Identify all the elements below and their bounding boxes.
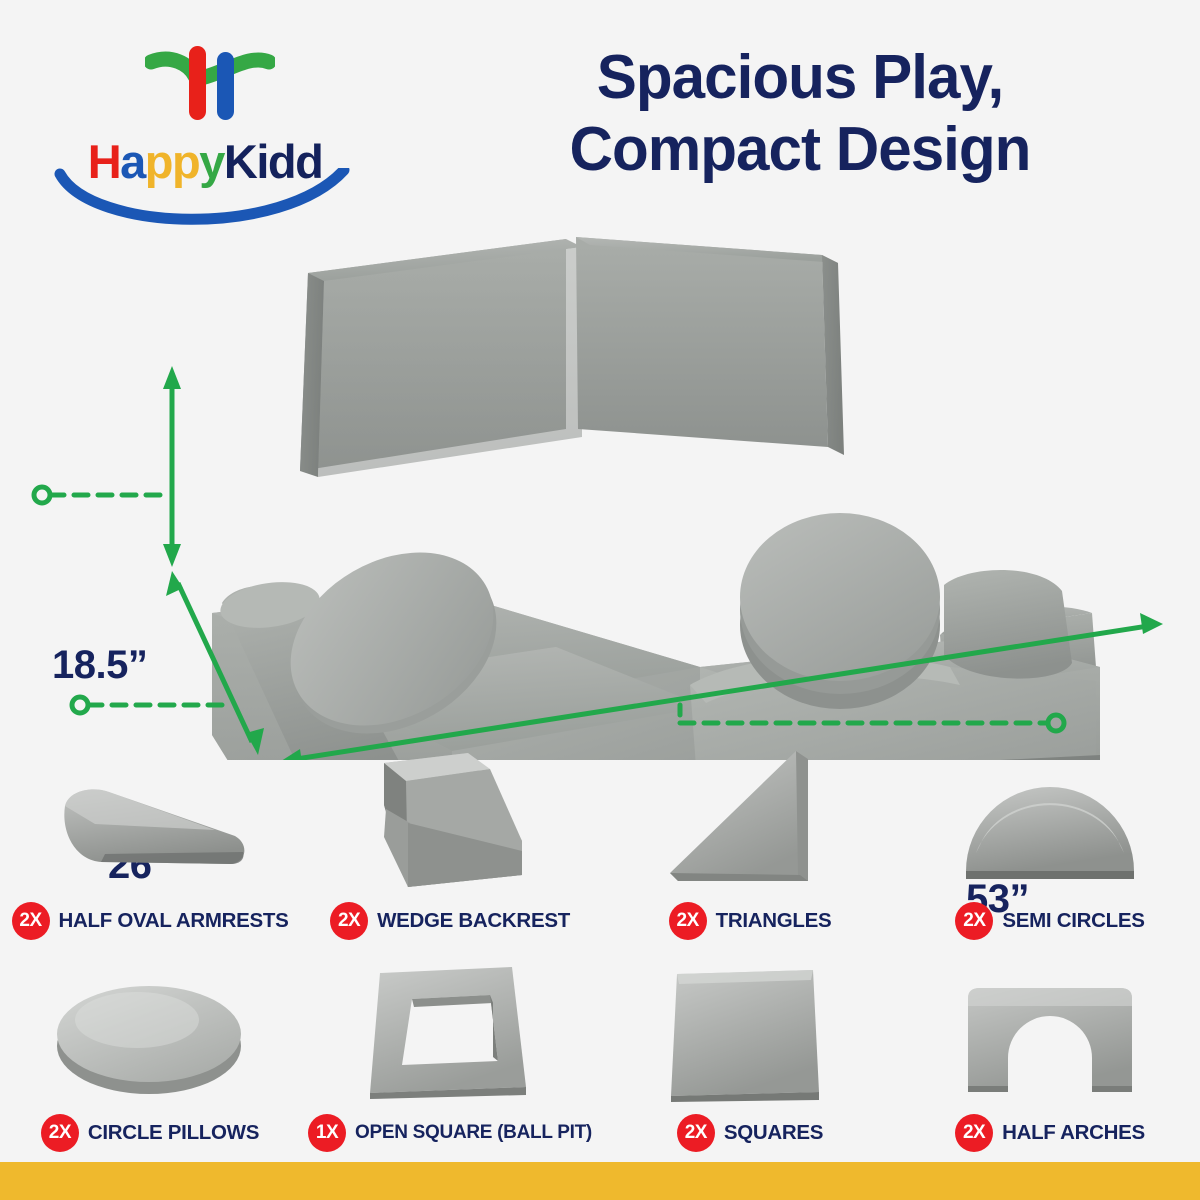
page-title: Spacious Play, Compact Design	[420, 42, 1180, 186]
title-line-2: Compact Design	[431, 114, 1168, 186]
qty-badge: 2X	[669, 902, 707, 940]
piece-circle-pillows[interactable]: 2X CIRCLE PILLOWS	[0, 947, 300, 1159]
half-oval-armrest-icon	[30, 745, 270, 895]
dimension-height-label: 18.5”	[52, 643, 147, 688]
piece-label: HALF ARCHES	[1002, 1121, 1145, 1145]
piece-caption: 2X SEMI CIRCLES	[955, 895, 1144, 947]
pieces-row-2: 2X CIRCLE PILLOWS	[0, 947, 1200, 1159]
piece-label: OPEN SQUARE (BALL PIT)	[355, 1122, 592, 1144]
piece-caption: 2X WEDGE BACKREST	[330, 895, 570, 947]
piece-label: HALF OVAL ARMRESTS	[59, 909, 289, 933]
semi-circle-icon	[930, 745, 1170, 895]
wedge-backrest-icon	[330, 745, 570, 895]
qty-badge: 2X	[12, 902, 50, 940]
pieces-grid: 2X HALF OVAL ARMRESTS	[0, 735, 1200, 1160]
piece-caption: 1X OPEN SQUARE (BALL PIT)	[308, 1107, 592, 1159]
title-line-1: Spacious Play,	[431, 42, 1168, 114]
happykidd-h-mark-icon	[145, 42, 275, 132]
triangle-icon	[630, 745, 870, 895]
piece-caption: 2X HALF OVAL ARMRESTS	[12, 895, 289, 947]
piece-label: TRIANGLES	[716, 909, 832, 933]
footer-accent-bar	[0, 1162, 1200, 1200]
brand-logo: HappyKidd	[40, 42, 370, 217]
qty-badge: 2X	[330, 902, 368, 940]
piece-label: SEMI CIRCLES	[1002, 909, 1144, 933]
piece-caption: 2X SQUARES	[677, 1107, 823, 1159]
square-icon	[630, 957, 870, 1107]
qty-badge: 2X	[41, 1114, 79, 1152]
qty-badge: 2X	[677, 1114, 715, 1152]
piece-half-arches[interactable]: 2X HALF ARCHES	[900, 947, 1200, 1159]
piece-triangles[interactable]: 2X TRIANGLES	[600, 735, 900, 947]
piece-label: SQUARES	[724, 1121, 823, 1145]
piece-wedge-backrest[interactable]: 2X WEDGE BACKREST	[300, 735, 600, 947]
qty-badge: 2X	[955, 1114, 993, 1152]
piece-caption: 2X CIRCLE PILLOWS	[41, 1107, 259, 1159]
piece-label: WEDGE BACKREST	[377, 909, 570, 933]
piece-caption: 2X HALF ARCHES	[955, 1107, 1145, 1159]
piece-semi-circles[interactable]: 2X SEMI CIRCLES	[900, 735, 1200, 947]
dimension-annotations	[0, 215, 1200, 760]
open-square-icon	[330, 957, 570, 1107]
circle-pillow-icon	[30, 957, 270, 1107]
piece-open-square[interactable]: 1X OPEN SQUARE (BALL PIT)	[300, 947, 600, 1159]
piece-half-oval-armrests[interactable]: 2X HALF OVAL ARMRESTS	[0, 735, 300, 947]
hero-product-area: 18.5” 26” 53”	[0, 215, 1200, 760]
infographic-page: HappyKidd Spacious Play, Compact Design	[0, 0, 1200, 1200]
qty-badge: 1X	[308, 1114, 346, 1152]
piece-label: CIRCLE PILLOWS	[88, 1121, 259, 1145]
piece-squares[interactable]: 2X SQUARES	[600, 947, 900, 1159]
dimension-height-arrow	[34, 366, 181, 567]
header: HappyKidd Spacious Play, Compact Design	[0, 0, 1200, 225]
piece-caption: 2X TRIANGLES	[669, 895, 832, 947]
pieces-row-1: 2X HALF OVAL ARMRESTS	[0, 735, 1200, 947]
qty-badge: 2X	[955, 902, 993, 940]
half-arch-icon	[930, 957, 1170, 1107]
